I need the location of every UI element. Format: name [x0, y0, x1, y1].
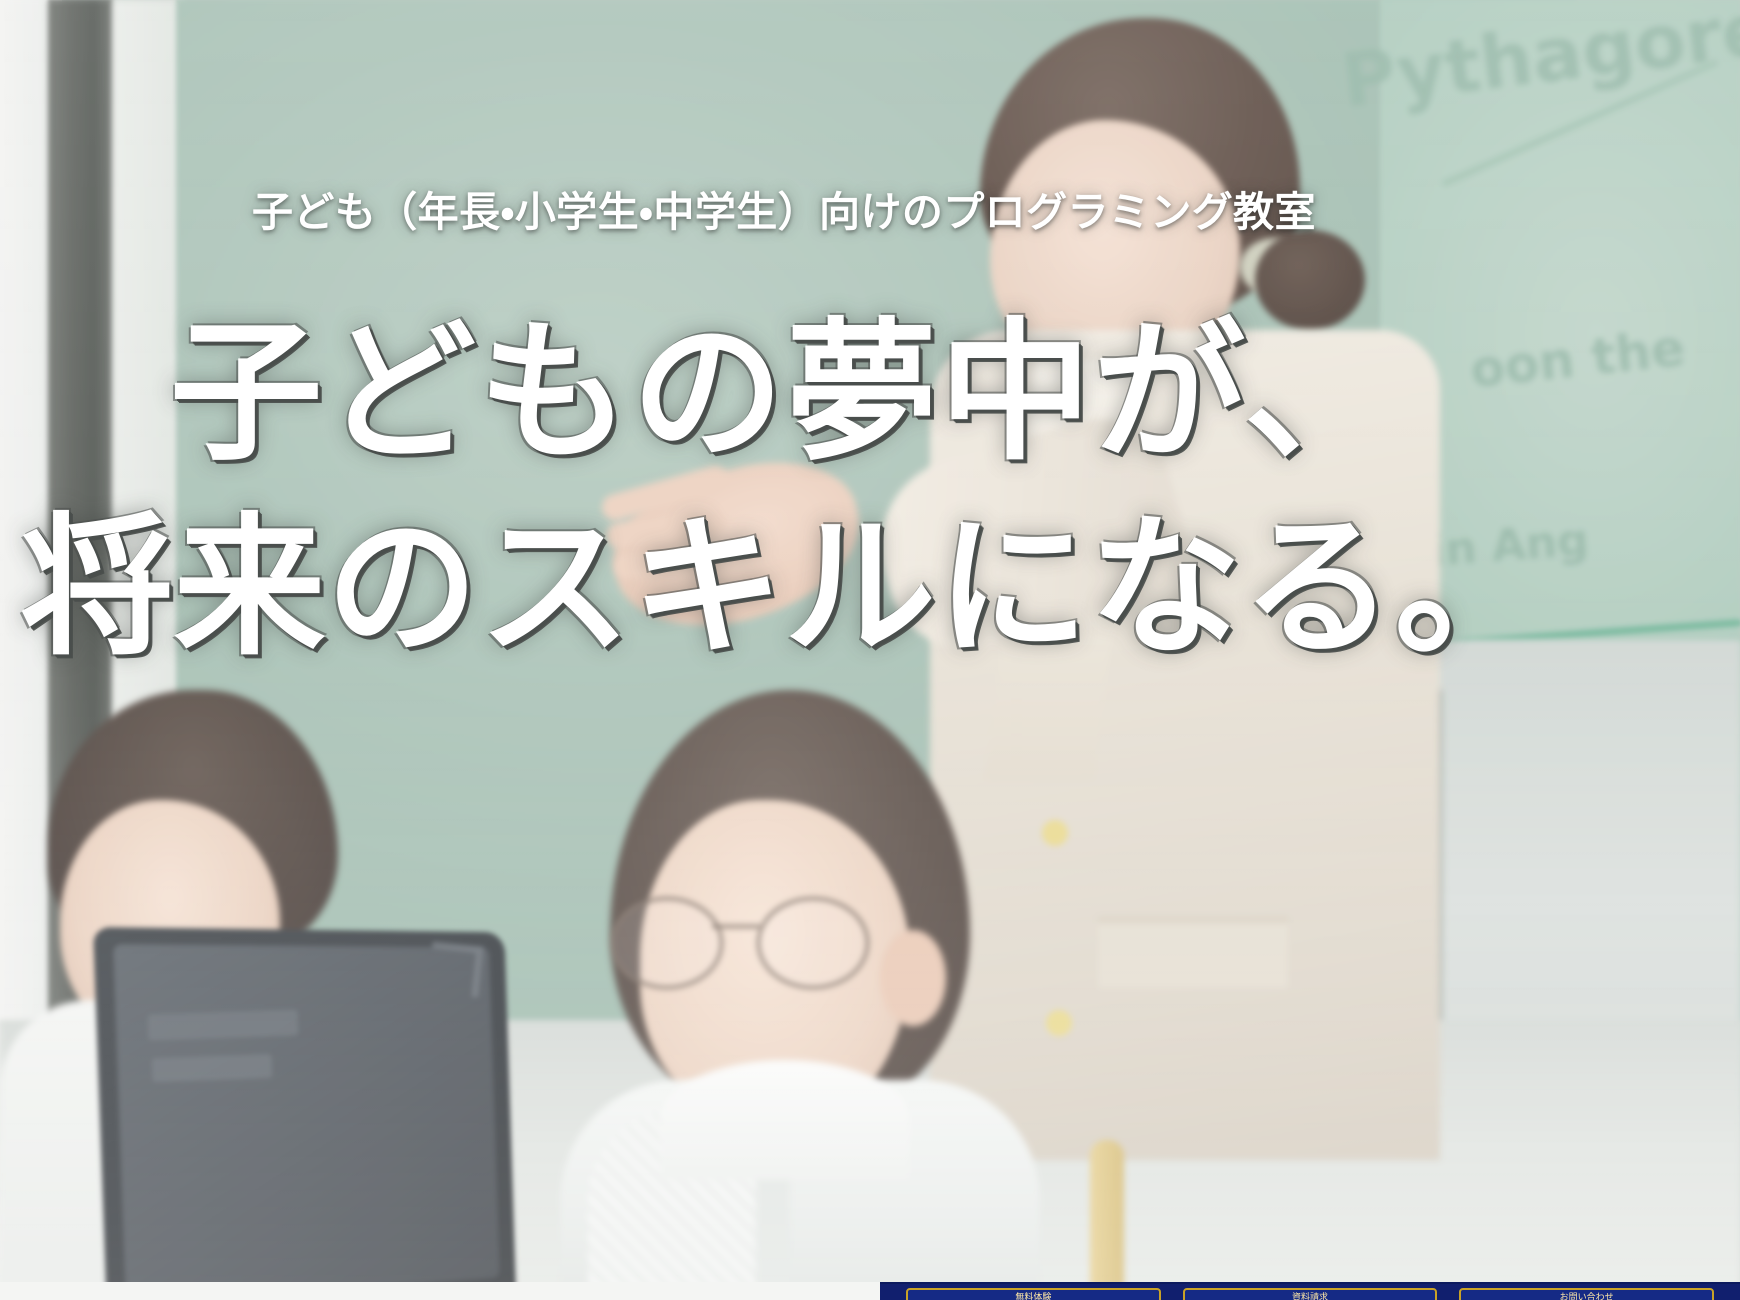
teacher-jacket-button-top: [1042, 820, 1068, 846]
hero-section: Pythagorean oon the in Ang: [0, 0, 1740, 1300]
glasses-lens-right: [756, 896, 870, 990]
cta-brochure-button[interactable]: 資料請求: [1183, 1288, 1438, 1300]
teacher-jacket-button-bottom: [1046, 1010, 1072, 1036]
sticky-bar-left-spacer: [0, 1282, 880, 1300]
sticky-cta-bar[interactable]: 無料体験 資料請求 お問い合わせ: [880, 1282, 1740, 1300]
glasses-lens-left: [610, 896, 724, 990]
cta-contact-button[interactable]: お問い合わせ: [1459, 1288, 1714, 1300]
teacher-finger-3: [614, 551, 720, 579]
glasses-bridge: [712, 924, 760, 929]
hero-background-photo: Pythagorean oon the in Ang: [0, 0, 1740, 1300]
tablet-corner-highlight: [427, 941, 483, 997]
student-girl-glasses: [606, 896, 896, 980]
classroom-chair: [1090, 1140, 1124, 1300]
tablet-screen: [113, 944, 500, 1300]
tablet-key-row-2: [152, 1054, 273, 1082]
teacher-hair-bun: [1255, 230, 1365, 330]
student-girl-collar: [660, 1060, 910, 1180]
tablet-key-row-1: [148, 1009, 299, 1040]
cta-trial-button[interactable]: 無料体験: [906, 1288, 1161, 1300]
teacher-jacket-pocket: [1098, 918, 1288, 988]
